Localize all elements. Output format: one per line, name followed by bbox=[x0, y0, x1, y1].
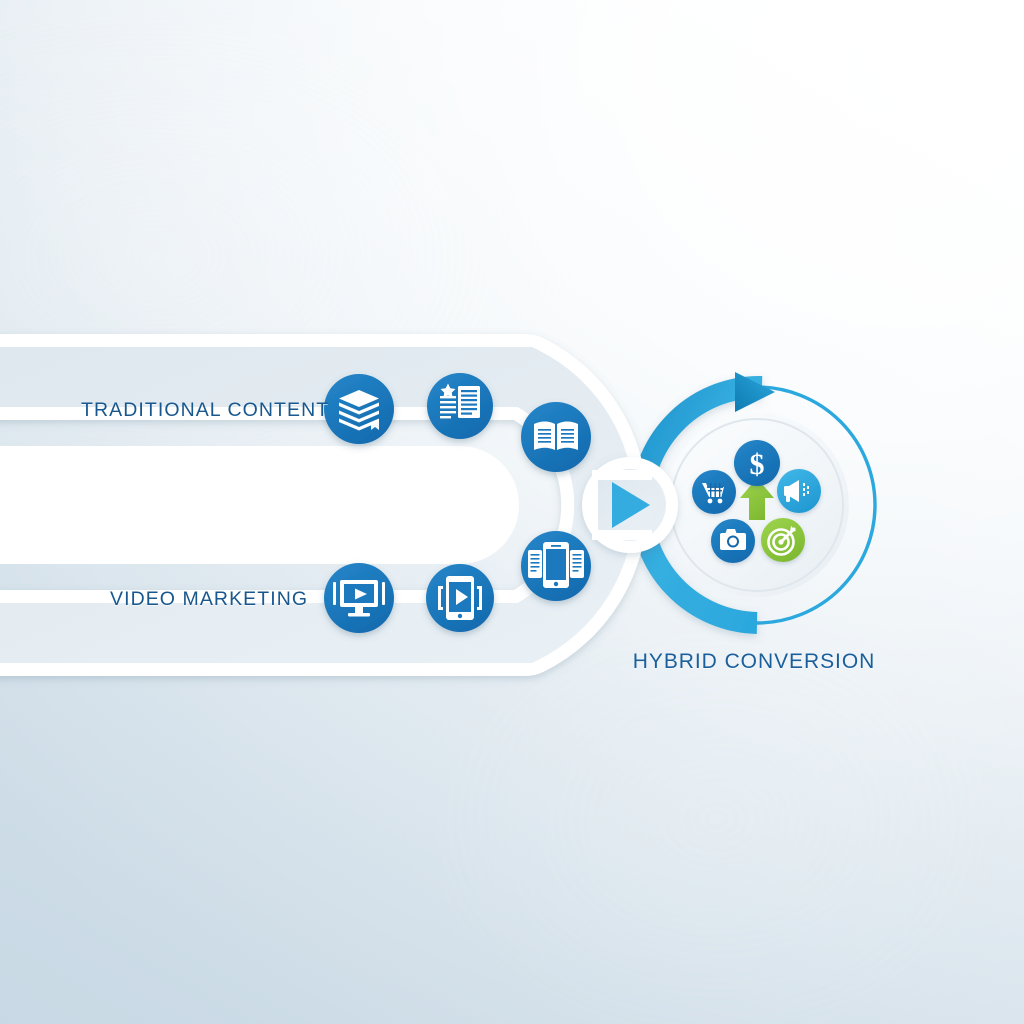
lane-label-video-marketing: VIDEO MARKETING bbox=[110, 588, 308, 611]
badge-circle bbox=[324, 374, 394, 444]
diagram-vector-layer: $ bbox=[0, 0, 1024, 1024]
hub-icon-dollar[interactable]: $ bbox=[734, 440, 780, 486]
lane-icon-tablet-play[interactable] bbox=[426, 564, 494, 632]
lane-icon-monitor-play[interactable] bbox=[324, 563, 394, 633]
lane-label-traditional-content: TRADITIONAL CONTENT bbox=[81, 399, 329, 422]
lane-icon-open-book[interactable] bbox=[521, 402, 591, 472]
lane-icon-document-star[interactable] bbox=[427, 373, 493, 439]
lane-icon-mobile-devices[interactable] bbox=[521, 531, 591, 601]
infographic-canvas: $ bbox=[0, 0, 1024, 1024]
hub-icon-target[interactable] bbox=[761, 518, 805, 562]
dollar-sign-icon: $ bbox=[750, 448, 765, 481]
hub-icon-megaphone[interactable] bbox=[777, 469, 821, 513]
hub-icon-camera[interactable] bbox=[711, 519, 755, 563]
hub-icon-cart[interactable] bbox=[692, 470, 736, 514]
hub-label-hybrid-conversion: HYBRID CONVERSION bbox=[242, 650, 1024, 674]
badge-circle bbox=[521, 402, 591, 472]
lane-icon-stacked-layers[interactable] bbox=[324, 374, 394, 444]
